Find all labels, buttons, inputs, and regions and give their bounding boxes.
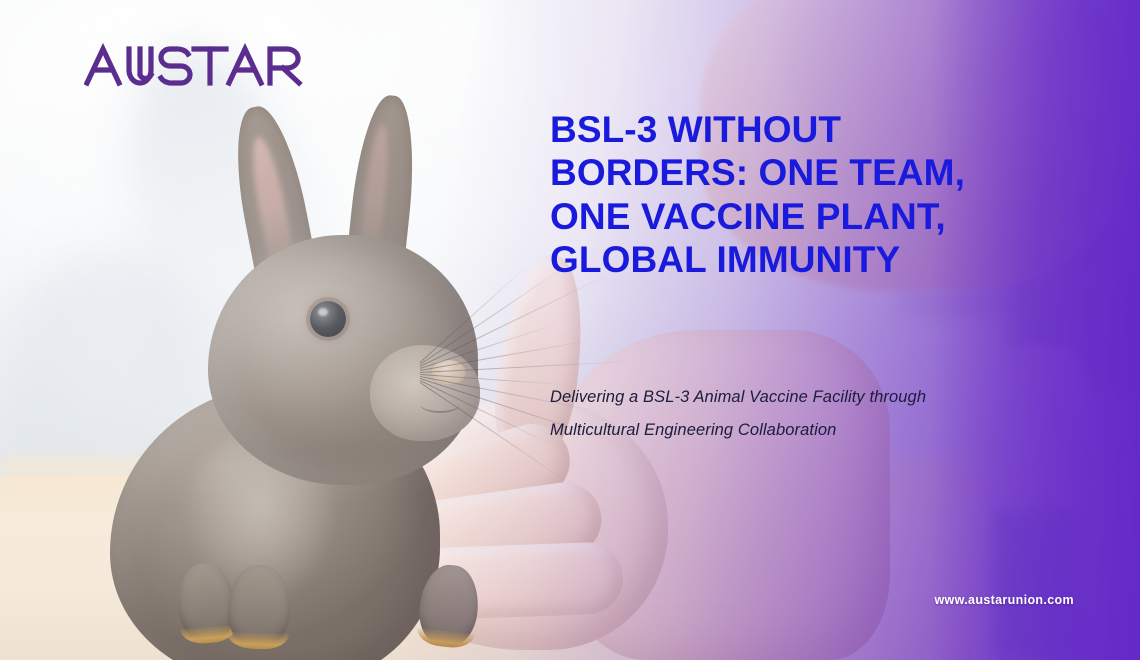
subtitle-line-1: Delivering a BSL-3 Animal Vaccine Facili… bbox=[550, 381, 1090, 414]
headline-line-2: BORDERS: ONE TEAM, bbox=[550, 151, 1110, 194]
marketing-banner: BSL-3 WITHOUT BORDERS: ONE TEAM, ONE VAC… bbox=[0, 0, 1140, 660]
headline-line-4: GLOBAL IMMUNITY bbox=[550, 238, 1110, 281]
purple-edge-overlay bbox=[930, 0, 1140, 660]
page-subtitle: Delivering a BSL-3 Animal Vaccine Facili… bbox=[550, 381, 1090, 447]
headline-line-3: ONE VACCINE PLANT, bbox=[550, 195, 1110, 238]
austar-logo[interactable] bbox=[84, 42, 314, 88]
website-url[interactable]: www.austarunion.com bbox=[934, 593, 1074, 607]
subtitle-line-2: Multicultural Engineering Collaboration bbox=[550, 414, 1090, 447]
page-title: BSL-3 WITHOUT BORDERS: ONE TEAM, ONE VAC… bbox=[550, 108, 1110, 281]
headline-line-1: BSL-3 WITHOUT bbox=[550, 108, 1110, 151]
